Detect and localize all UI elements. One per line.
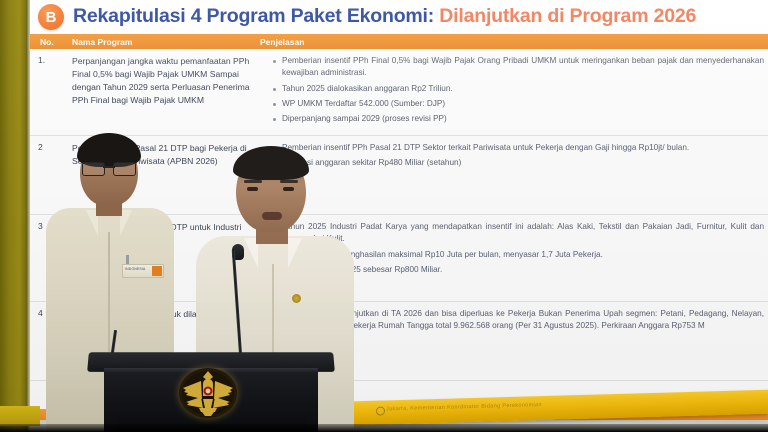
table-row: 1. Perpanjangan jangka waktu pemanfaatan…: [30, 49, 768, 136]
eye-left: [247, 187, 258, 191]
bullet-item: Diperpanjang sampai 2029 (proses revisi …: [270, 113, 764, 125]
eyebrow-right: [280, 180, 298, 183]
name-badge-text: INDONESIA: [125, 267, 145, 271]
eyebrow-left: [244, 180, 262, 183]
page-title: Rekapitulasi 4 Program Paket Ekonomi: Di…: [73, 7, 696, 27]
name-badge: INDONESIA: [122, 264, 164, 278]
column-header-nama: Nama Program: [72, 37, 132, 47]
bullet-item: Tahun 2025 dialokasikan anggaran Rp2 Tri…: [270, 83, 764, 95]
column-header-penjelasan: Penjelasan: [260, 37, 304, 47]
row-number: 1.: [30, 49, 70, 135]
lapel-pin: [292, 294, 301, 303]
wall-left-olive: [0, 0, 26, 432]
video-frame: B Rekapitulasi 4 Program Paket Ekonomi: …: [0, 0, 768, 432]
name-badge-stripe: [152, 266, 162, 276]
bullet-item: Pemberian insentif PPh Final 0,5% bagi W…: [270, 55, 764, 80]
bullet-item: WP UMKM Terdaftar 542.000 (Sumber: DJP): [270, 98, 764, 110]
program-description: Pemberian insentif PPh Final 0,5% bagi W…: [266, 49, 768, 135]
slide-title-secondary: Dilanjutkan di Program 2026: [439, 5, 696, 27]
lens-right: [113, 162, 136, 176]
slide-title-bar: B Rekapitulasi 4 Program Paket Ekonomi: …: [30, 0, 768, 34]
collar-right: [288, 238, 302, 268]
garuda-pancasila-emblem-icon: [172, 362, 244, 424]
eyeglasses: [82, 162, 136, 174]
barrier-caption: Jakarta, Kementerian Koordinator Bidang …: [386, 402, 542, 412]
glasses-bridge: [103, 166, 115, 168]
slide-title-primary: Rekapitulasi 4 Program Paket Ekonomi:: [73, 5, 434, 27]
info-icon: [376, 406, 385, 415]
table-header-row: No. Nama Program Penjelasan: [30, 34, 768, 49]
wall-left-edge: [26, 0, 30, 432]
section-badge: B: [38, 4, 64, 30]
shirt-placket: [108, 232, 110, 362]
barrier-left-block: [0, 406, 40, 426]
program-name: Perpanjangan jangka waktu pemanfaatan PP…: [70, 49, 266, 135]
eye-right: [283, 187, 294, 191]
lens-left: [82, 162, 105, 176]
floor-shadow: [0, 424, 768, 432]
mouth: [262, 212, 282, 220]
column-header-no: No.: [40, 37, 54, 47]
hair: [233, 146, 309, 180]
